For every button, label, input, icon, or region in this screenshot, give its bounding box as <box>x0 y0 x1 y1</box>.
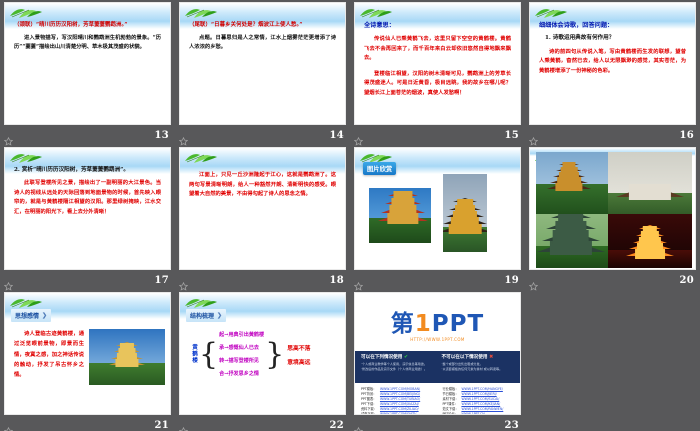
structure-item: 承→感慨仙人已去 <box>219 344 264 351</box>
bamboo-leaf-icon <box>184 295 218 308</box>
resource-link[interactable]: WWW.1PPT.COM/SHITI/ <box>380 412 420 415</box>
star-icon[interactable] <box>4 421 13 430</box>
star-icon[interactable] <box>354 421 363 430</box>
slide-text-block: 细细体会诗歌，回答问题：1. 诗歌运用典故有何作用？诗的前四句从传说入笔，写由黄… <box>539 21 686 76</box>
allowed-usage-column: 可以在下列情况使用 ✔ ·个人或商业教学等个人使用，演示信息等用途。 ·修改后的… <box>361 354 434 380</box>
slide-heading: 2. 赏析“晴川历历汉阳树，芳草萋萋鹦鹉洲”。 <box>14 166 161 174</box>
resource-links[interactable]: PPT模板：PPT背景：PPT图表：PPT下载：资料下载：试卷下载：教案下载： … <box>361 387 514 415</box>
slide-number: 15 <box>504 130 519 141</box>
slide-number: 21 <box>154 420 169 431</box>
slide-footer: 19 <box>350 271 525 289</box>
section-tag: 结构梳理 ❯ <box>186 309 226 322</box>
structure-diagram: 黄鹤楼 { 起→用典引出黄鹤楼承→感慨仙人已去转→描写登楼所见合→抒发思乡之情 … <box>190 331 337 377</box>
brand-one: 1 <box>415 311 432 337</box>
slide-heading: （尾联）“日暮乡关何处是？烟波江上使人愁。” <box>189 21 336 29</box>
section-tag-label: 结构梳理 <box>190 311 214 320</box>
slide-cell[interactable]: （颈联）“晴川历历汉阳树，芳草萋萋鹦鹉洲。”进入景物描写，写汉阳晴川和鹦鹉洲生机… <box>0 0 175 145</box>
structure-item: 合→抒发思乡之情 <box>219 370 264 377</box>
right-brace-icon: } <box>265 341 284 368</box>
slide-subheading: 1. 诗歌运用典故有何作用？ <box>539 34 686 42</box>
slide-footer: 21 <box>0 416 175 431</box>
brand-prefix: 第 <box>391 311 415 337</box>
slide-thumbnail-grid[interactable]: （颈联）“晴川历历汉阳树，芳草萋萋鹦鹉洲。”进入景物描写，写汉阳晴川和鹦鹉洲生机… <box>0 0 700 431</box>
star-icon[interactable] <box>354 276 363 285</box>
link-column[interactable]: 行业模板：节日模板：素材下载：PPT课件：范文下载：PPT论坛： WWW.1PP… <box>443 387 515 415</box>
link-labels: PPT模板：PPT背景：PPT图表：PPT下载：资料下载：试卷下载：教案下载： <box>361 387 377 415</box>
usage-terms-band: 可以在下列情况使用 ✔ ·个人或商业教学等个人使用，演示信息等用途。 ·修改后的… <box>355 351 520 383</box>
link-labels: 行业模板：节日模板：素材下载：PPT课件：范文下载：PPT论坛： <box>443 387 459 415</box>
allowed-line-0: ·个人或商业教学等个人使用，演示信息等用途。 <box>361 362 434 367</box>
slide-cell[interactable]: 细细体会诗歌，回答问题：1. 诗歌运用典故有何作用？诗的前四句从传说入笔，写由黄… <box>525 0 700 145</box>
chevron-right-icon: ❯ <box>217 312 222 319</box>
slide-heading: 全诗意思： <box>364 21 511 30</box>
bamboo-leaf-icon <box>359 5 393 18</box>
structure-subject: 黄鹤楼 <box>190 344 198 364</box>
slide-thumbnail[interactable]: （尾联）“日暮乡关何处是？烟波江上使人愁。”点题。日暮思归是人之常情，江水上烟雾… <box>179 2 346 125</box>
slide-thumbnail[interactable]: 2. 赏析“晴川历历汉阳树，芳草萋萋鹦鹉洲”。此联写登楼所见之景，描绘出了一副明… <box>4 147 171 270</box>
slide-thumbnail[interactable]: 思想感情 ❯诗人登临古迹黄鹤楼，通过泛览眼前景物，即景而生情，夜寞之感，加之神话… <box>4 292 171 415</box>
section-tag: 思想感情 ❯ <box>11 309 51 322</box>
structure-item: 转→描写登楼所见 <box>219 357 264 364</box>
slide-thumbnail[interactable]: 细细体会诗歌，回答问题：1. 诗歌运用典故有何作用？诗的前四句从传说入笔，写由黄… <box>529 2 696 125</box>
bamboo-leaf-icon <box>9 295 43 308</box>
yellow-crane-tower-stairs-photo <box>536 152 608 214</box>
slide-cell[interactable]: 全诗意思：传说仙人已乘黄鹤飞去，这里只留下空空的黄鹤楼。黄鹤飞去不会再回来了，而… <box>350 0 525 145</box>
slide-number: 18 <box>329 275 344 286</box>
brand-logo: 第1PPT <box>355 313 520 336</box>
slide-footer: 14 <box>175 126 350 144</box>
structure-item: 起→用典引出黄鹤楼 <box>219 331 264 338</box>
slide-cell[interactable]: 第1PPT HTTP://WWW.1PPT.COM 可以在下列情况使用 ✔ ·个… <box>350 290 525 431</box>
slide-number: 13 <box>154 130 169 141</box>
slide-number: 23 <box>504 420 519 431</box>
link-urls[interactable]: WWW.1PPT.COM/MOBAN/WWW.1PPT.COM/BEIJING/… <box>380 387 420 415</box>
section-tag: 图片欣赏 <box>363 162 396 175</box>
slide-text-block: （颈联）“晴川历历汉阳树，芳草萋萋鹦鹉洲。”进入景物描写，写汉阳晴川和鹦鹉洲生机… <box>14 21 161 53</box>
slide-number: 14 <box>329 130 344 141</box>
tower-night-illuminated-photo <box>608 214 692 268</box>
slide-number: 17 <box>154 275 169 286</box>
slide-cell[interactable]: 江面上，只见一丘沙洲隆起于江心，这就是鹦鹉洲了。这两句写景清晰明朗，给人一种豁然… <box>175 145 350 290</box>
slide-thumbnail[interactable]: 结构梳理 ❯ 黄鹤楼 { 起→用典引出黄鹤楼承→感慨仙人已去转→描写登楼所见合→… <box>179 292 346 415</box>
slide-body-2: 登楼临江相望，汉阳的树木清晰可见，鹦鹉洲上的芳草长得茂盛迷人。可是日近黄昏，极目… <box>364 70 511 99</box>
star-icon[interactable] <box>529 276 538 285</box>
slide-body: 点题。日暮思归是人之常情，江水上烟雾茫茫更增添了诗人浓浓的乡愁。 <box>189 34 336 53</box>
slide-body: 诗人登临古迹黄鹤楼，通过泛览眼前景物，即景而生情，夜寞之感，加之神话传说的触动，… <box>14 329 84 381</box>
structure-conclusion: 思高不落 <box>287 343 310 352</box>
link-label: PPT论坛： <box>443 412 459 415</box>
slide-number: 19 <box>504 275 519 286</box>
yellow-crane-tower-hilltop-photo <box>369 188 431 243</box>
slide-footer: 23 <box>350 416 525 431</box>
slide-heading: 细细体会诗歌，回答问题： <box>539 21 686 30</box>
slide-body: 进入景物描写，写汉阳晴川和鹦鹉洲生机勃勃的景象。“历历”“萋萋”描绘出山川清楚分… <box>14 34 161 53</box>
slide-text-block: 江面上，只见一丘沙洲隆起于江心，这就是鹦鹉洲了。这两句写景清晰明朗，给人一种豁然… <box>189 166 336 200</box>
slide-thumbnail[interactable] <box>529 147 696 270</box>
link-label: 试卷下载： <box>361 412 377 415</box>
slide-cell[interactable]: 结构梳理 ❯ 黄鹤楼 { 起→用典引出黄鹤楼承→感慨仙人已去转→描写登楼所见合→… <box>175 290 350 431</box>
bamboo-leaf-icon <box>184 5 218 18</box>
slide-footer: 17 <box>0 271 175 289</box>
link-urls[interactable]: WWW.1PPT.COM/HANGYE/WWW.1PPT.COM/JIERI/W… <box>461 387 503 415</box>
slide-thumbnail[interactable]: （颈联）“晴川历历汉阳树，芳草萋萋鹦鹉洲。”进入景物描写，写汉阳晴川和鹦鹉洲生机… <box>4 2 171 125</box>
bamboo-leaf-icon <box>9 5 43 18</box>
star-icon[interactable] <box>179 131 188 140</box>
slide-thumbnail[interactable]: 第1PPT HTTP://WWW.1PPT.COM 可以在下列情况使用 ✔ ·个… <box>354 292 521 415</box>
bamboo-leaf-icon <box>534 5 568 18</box>
slide-footer: 16 <box>525 126 700 144</box>
slide-body: 江面上，只见一丘沙洲隆起于江心，这就是鹦鹉洲了。这两句写景清晰明朗，给人一种豁然… <box>189 171 336 200</box>
slide-cell[interactable]: 20 <box>525 145 700 290</box>
forbidden-usage-column: 不可以在以下情况使用 ✖ ·整个或部分出售出租或分发。 ·以该套模板的任何元素为… <box>442 354 515 380</box>
star-icon[interactable] <box>179 421 188 430</box>
yellow-crane-tower-plaza-photo <box>89 329 165 385</box>
chevron-right-icon: ❯ <box>42 312 47 319</box>
memorial-gate-photo <box>608 152 692 214</box>
slide-footer: 15 <box>350 126 525 144</box>
allowed-title: 可以在下列情况使用 ✔ <box>361 354 434 360</box>
left-brace-icon: { <box>199 341 218 368</box>
link-column[interactable]: PPT模板：PPT背景：PPT图表：PPT下载：资料下载：试卷下载：教案下载： … <box>361 387 433 415</box>
cross-icon: ✖ <box>489 354 493 360</box>
brand-url: HTTP://WWW.1PPT.COM <box>355 337 520 342</box>
slide-body: 传说仙人已乘黄鹤飞去，这里只留下空空的黄鹤楼。黄鹤飞去不会再回来了，而千百年来白… <box>364 35 511 64</box>
tower-roofs-greenery-photo <box>536 214 608 268</box>
slide-cell[interactable]: 思想感情 ❯诗人登临古迹黄鹤楼，通过泛览眼前景物，即景而生情，夜寞之感，加之神话… <box>0 290 175 431</box>
section-tag-label: 图片欣赏 <box>367 164 392 173</box>
slide-heading: （颈联）“晴川历历汉阳树，芳草萋萋鹦鹉洲。” <box>14 21 161 29</box>
slide-text-block: 全诗意思：传说仙人已乘黄鹤飞去，这里只留下空空的黄鹤楼。黄鹤飞去不会再回来了，而… <box>364 21 511 98</box>
forbidden-line-1: ·以该套模板的任何元素为素材 或以转卖等。 <box>442 367 515 372</box>
slide-cell[interactable]: （尾联）“日暮乡关何处是？烟波江上使人愁。”点题。日暮思归是人之常情，江水上烟雾… <box>175 0 350 145</box>
star-icon[interactable] <box>179 276 188 285</box>
bamboo-leaf-icon <box>184 150 218 163</box>
slide-thumbnail[interactable]: 江面上，只见一丘沙洲隆起于江心，这就是鹦鹉洲了。这两句写景清晰明朗，给人一种豁然… <box>179 147 346 270</box>
star-icon[interactable] <box>4 276 13 285</box>
empty-slide-placeholder <box>529 292 696 415</box>
slide-footer: 13 <box>0 126 175 144</box>
slide-thumbnail[interactable]: 全诗意思：传说仙人已乘黄鹤飞去，这里只留下空空的黄鹤楼。黄鹤飞去不会再回来了，而… <box>354 2 521 125</box>
slide-number: 16 <box>679 130 694 141</box>
star-icon[interactable] <box>354 131 363 140</box>
slide-body: 此联写登楼所见之景，描绘出了一副明丽的大江景色。当诗人的视线从远处的天际回落到地… <box>14 179 161 217</box>
structure-conclusion: 意境高远 <box>287 357 310 366</box>
brand-suffix: PPT <box>432 311 484 337</box>
slide-footer: 20 <box>525 271 700 289</box>
slide-cell[interactable]: 图片欣赏 19 <box>350 145 525 290</box>
forbidden-title: 不可以在以下情况使用 ✖ <box>442 354 515 360</box>
star-icon[interactable] <box>529 131 538 140</box>
section-tag-label: 思想感情 <box>15 311 39 320</box>
slide-cell[interactable]: 2. 赏析“晴川历历汉阳树，芳草萋萋鹦鹉洲”。此联写登楼所见之景，描绘出了一副明… <box>0 145 175 290</box>
slide-number: 20 <box>679 275 694 286</box>
slide-body: 诗的前四句从传说入笔，写由黄鹤楼而生发的联想，望昔人乘黄鹤，杳然已去，给人以无限… <box>539 48 686 77</box>
bamboo-leaf-icon <box>9 150 43 163</box>
star-icon[interactable] <box>4 131 13 140</box>
allowed-line-1: ·修改后的作品及演示文件（个人非商业用途）。 <box>361 367 434 372</box>
check-icon: ✔ <box>404 354 408 360</box>
slide-number: 22 <box>329 420 344 431</box>
yellow-crane-tower-front-photo <box>443 174 487 252</box>
resource-link[interactable]: WWW.1PPT.CN <box>461 412 503 415</box>
slide-footer: 18 <box>175 271 350 289</box>
slide-footer: 22 <box>175 416 350 431</box>
slide-text-block: 2. 赏析“晴川历历汉阳树，芳草萋萋鹦鹉洲”。此联写登楼所见之景，描绘出了一副明… <box>14 166 161 218</box>
slide-thumbnail[interactable]: 图片欣赏 <box>354 147 521 270</box>
slide-cell[interactable] <box>525 290 700 431</box>
slide-text-block: （尾联）“日暮乡关何处是？烟波江上使人愁。”点题。日暮思归是人之常情，江水上烟雾… <box>189 21 336 53</box>
